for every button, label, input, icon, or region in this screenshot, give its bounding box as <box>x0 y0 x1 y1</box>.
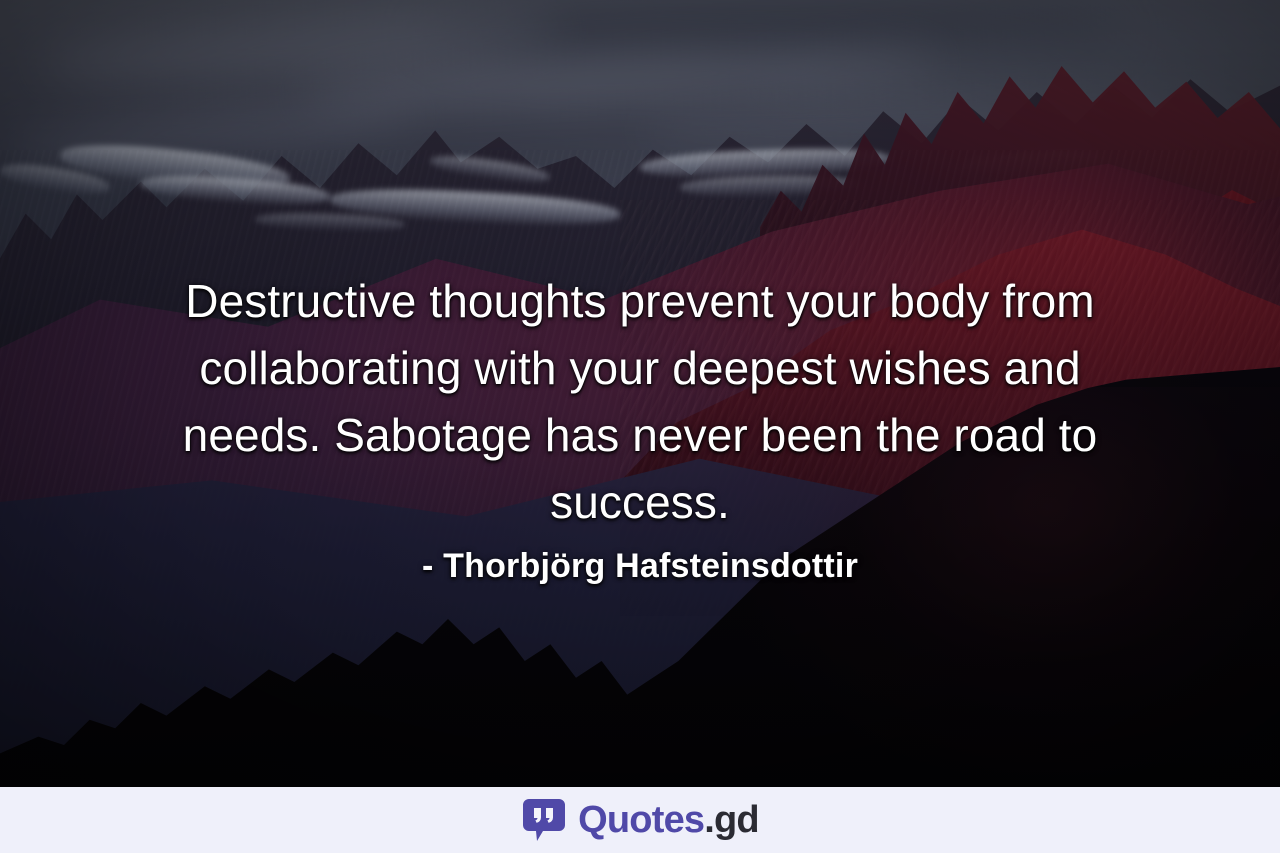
footer-bar: Quotes.gd <box>0 787 1280 853</box>
quote-author: - Thorbjörg Hafsteinsdottir <box>140 545 1140 587</box>
brand-tld: .gd <box>704 799 759 841</box>
brand-logo[interactable]: Quotes.gd <box>521 797 759 843</box>
brand-wordmark: Quotes.gd <box>578 800 759 840</box>
quote-text: Destructive thoughts prevent your body f… <box>140 268 1140 536</box>
quote-block: Destructive thoughts prevent your body f… <box>140 268 1140 587</box>
brand-name: Quotes <box>578 799 704 841</box>
quote-image-card: Destructive thoughts prevent your body f… <box>0 0 1280 853</box>
quote-bubble-icon <box>521 797 567 843</box>
